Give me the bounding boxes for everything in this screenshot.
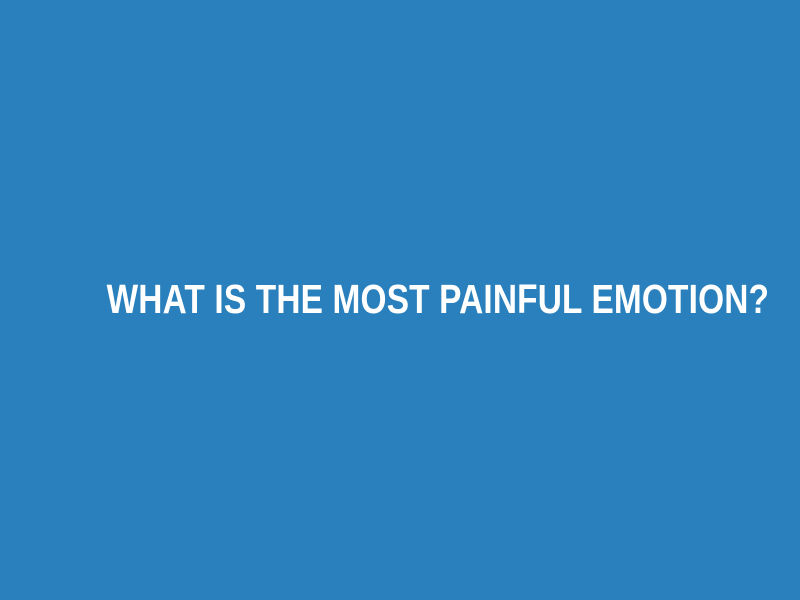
article-header-banner: WHAT IS THE MOST PAINFUL EMOTION? (0, 0, 800, 600)
page-title: WHAT IS THE MOST PAINFUL EMOTION? (107, 277, 694, 322)
title-block: WHAT IS THE MOST PAINFUL EMOTION? (0, 277, 800, 322)
